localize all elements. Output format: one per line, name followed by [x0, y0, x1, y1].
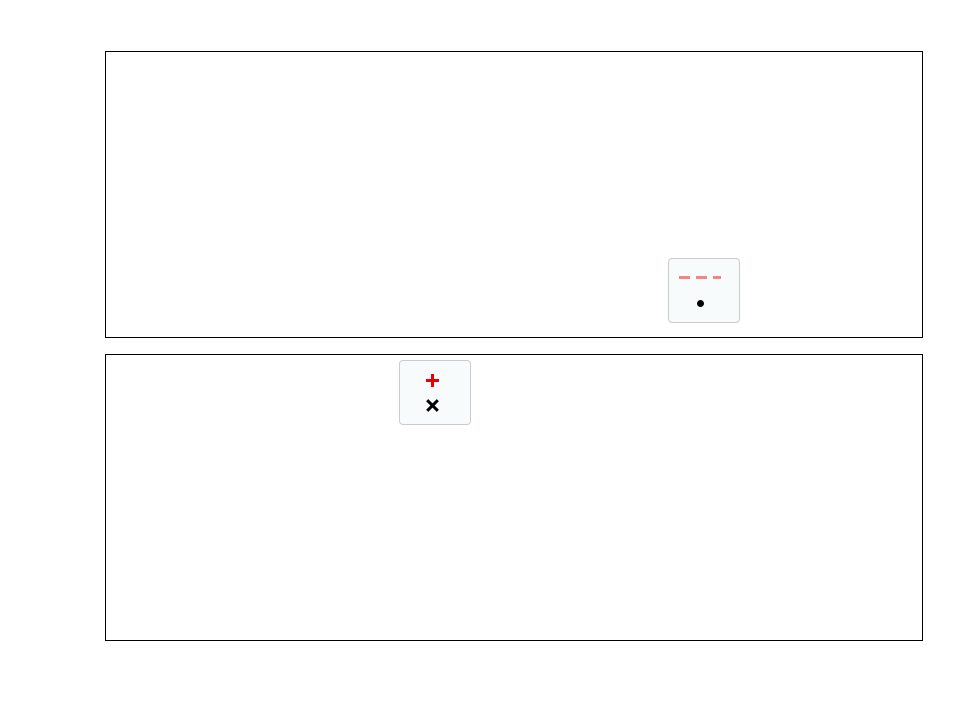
legend-item-measurements: [677, 290, 729, 316]
bottom-panel-legend: [399, 360, 471, 425]
top-panel-plot-area: [105, 51, 923, 338]
dashed-line-icon: [677, 267, 723, 287]
figure-canvas: [0, 0, 960, 720]
bottom-panel-plot-area: [105, 354, 923, 641]
top-panel-data-layer: [106, 52, 924, 339]
cross-marker-icon: [408, 395, 454, 415]
legend-item-threshold: [677, 264, 729, 290]
top-panel-legend: [668, 258, 740, 323]
plus-marker-icon: [408, 369, 454, 389]
dot-marker-icon: [677, 293, 723, 313]
legend-item-matched-stars: [408, 366, 460, 392]
bottom-panel-data-layer: [106, 355, 924, 642]
legend-item-predicted-stars: [408, 392, 460, 418]
